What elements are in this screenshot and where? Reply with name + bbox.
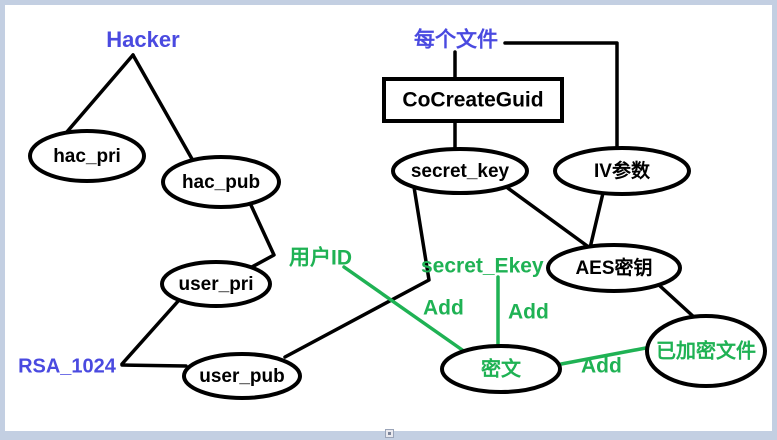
node-user_pri[interactable]: user_pri	[162, 262, 270, 306]
node-hacker[interactable]: Hacker	[106, 27, 180, 52]
label-secret_ekey: secret_Ekey	[421, 255, 544, 278]
edge-hacker-hac_pri	[66, 55, 133, 133]
node-label-ciphertext: 密文	[481, 356, 522, 380]
node-hac_pub[interactable]: hac_pub	[163, 157, 279, 207]
node-label-rsa_1024: RSA_1024	[18, 355, 117, 377]
edge-user_pri-rsa	[122, 299, 180, 364]
resize-handle[interactable]	[385, 429, 394, 438]
edge-user_pub-secret_key	[285, 187, 429, 357]
node-label-secret_key: secret_key	[411, 161, 510, 182]
label-add_right: Add	[581, 355, 622, 378]
node-label-hac_pri: hac_pri	[53, 146, 121, 167]
node-label-cocreateguid: CoCreateGuid	[402, 89, 543, 112]
node-label-enc_file: 已加密文件	[656, 338, 756, 362]
node-aes_key[interactable]: AES密钥	[548, 245, 680, 291]
edge-aes-enc_file	[660, 286, 695, 318]
node-label-each_file: 每个文件	[414, 28, 498, 52]
node-rsa_1024[interactable]: RSA_1024	[18, 355, 117, 377]
diagram-canvas: Hackerhac_prihac_pubuser_priuser_pubRSA_…	[0, 0, 777, 440]
node-label-aes_key: AES密钥	[575, 256, 652, 279]
node-label-hac_pub: hac_pub	[182, 172, 260, 193]
node-label-user_pri: user_pri	[179, 274, 254, 295]
node-label-iv_param: IV参数	[594, 159, 651, 182]
label-add_left: Add	[423, 297, 464, 320]
edge-hac_pub-user_pri	[250, 203, 274, 268]
node-user_pub[interactable]: user_pub	[184, 354, 300, 398]
label-add_mid: Add	[508, 301, 549, 324]
node-hac_pri[interactable]: hac_pri	[30, 131, 144, 181]
label-user_id: 用户ID	[289, 246, 352, 270]
node-secret_key[interactable]: secret_key	[393, 149, 527, 193]
edge-secret_key-aes	[505, 186, 590, 248]
nodes-layer: Hackerhac_prihac_pubuser_priuser_pubRSA_…	[18, 27, 765, 398]
node-enc_file[interactable]: 已加密文件	[647, 316, 765, 386]
node-each_file[interactable]: 每个文件	[414, 28, 498, 52]
node-label-hacker: Hacker	[106, 27, 180, 52]
node-ciphertext[interactable]: 密文	[442, 346, 560, 392]
edges-layer	[66, 43, 695, 366]
edge-rsa-user_pub	[122, 365, 186, 366]
node-label-user_pub: user_pub	[199, 366, 285, 387]
node-iv_param[interactable]: IV参数	[555, 148, 689, 194]
node-cocreateguid[interactable]: CoCreateGuid	[384, 79, 562, 121]
encryption-flow-diagram: Hackerhac_prihac_pubuser_priuser_pubRSA_…	[0, 0, 777, 440]
edge-iv-aes	[590, 193, 603, 248]
